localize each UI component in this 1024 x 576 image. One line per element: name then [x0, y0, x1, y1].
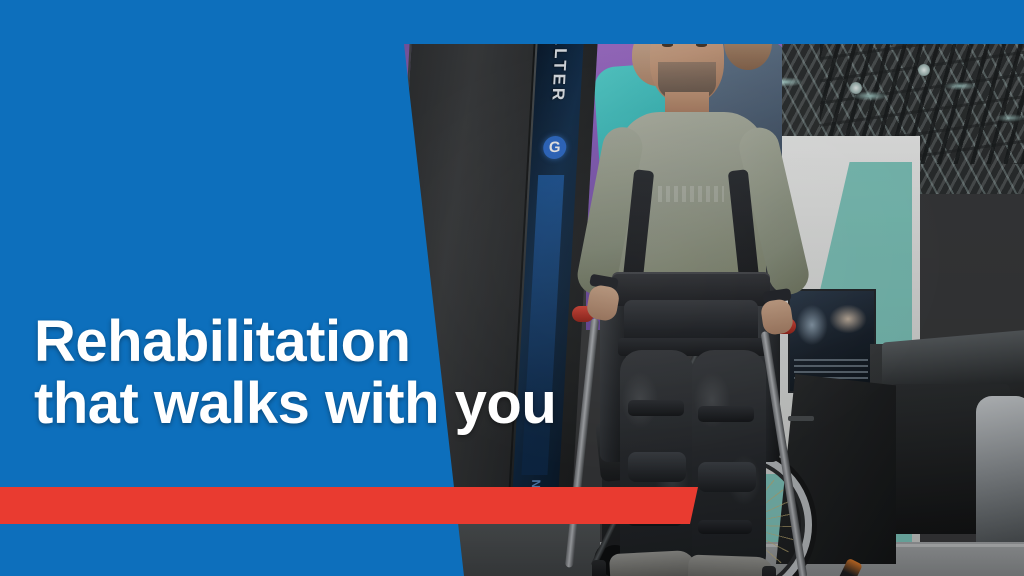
background-person [976, 396, 1024, 564]
subject-eye-right [696, 44, 707, 47]
exo-knee-brace-right [698, 462, 756, 492]
exo-thigh-strap-left [628, 400, 684, 416]
spotlight-icon [918, 64, 930, 76]
crutch-tip-left [592, 560, 606, 576]
spotlight-icon [850, 82, 862, 94]
subject-shoe-left [609, 550, 697, 576]
video-thumbnail: ALTER G NEO [0, 0, 1024, 576]
exo-shin-strap-right [698, 520, 752, 534]
headline-line-1: Rehabilitation [34, 311, 556, 373]
crutch-tip-right [762, 566, 776, 576]
sweatshirt-chest-print [658, 186, 724, 202]
subject-leg-right [692, 350, 766, 570]
headline-line-2: that walks with you [34, 373, 556, 435]
brand-red-accent-bar [0, 487, 700, 524]
alterg-g-logo-icon: G [543, 136, 567, 159]
exo-knee-brace-left [628, 452, 686, 482]
subject-eye-left [662, 44, 673, 47]
crutch-left [565, 318, 599, 567]
subject-hand-right [760, 298, 794, 336]
exo-thigh-strap-right [698, 406, 754, 422]
headline: Rehabilitation that walks with you [34, 311, 556, 435]
